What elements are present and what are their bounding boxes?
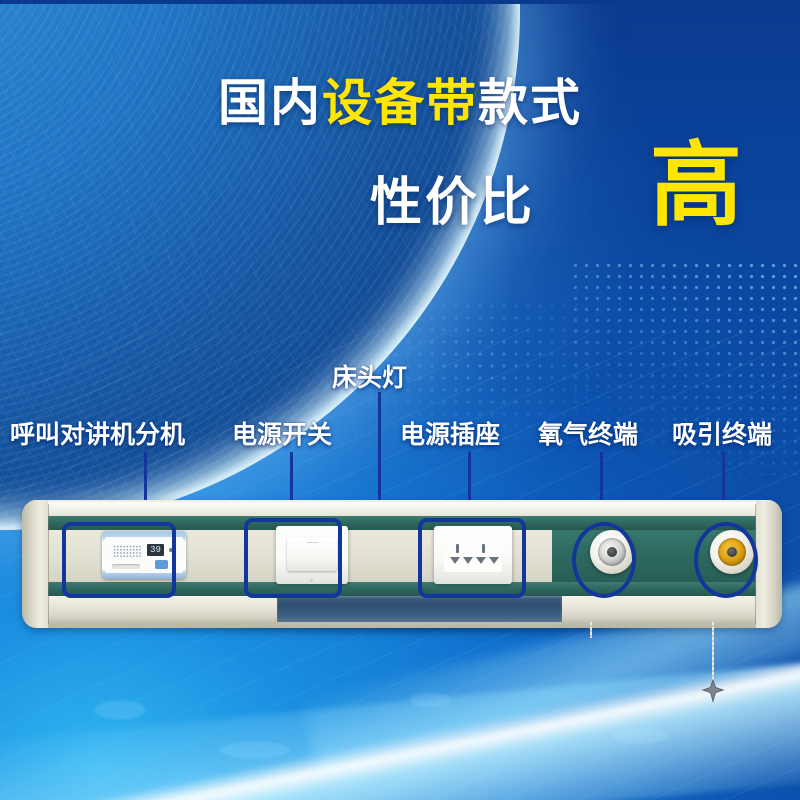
top-edge-bar [0,0,800,4]
callout-label-oxygen: 氧气终端 [538,415,638,451]
panel-end-cap-left [22,500,48,628]
panel-seam-left [48,504,49,624]
headline-line-2: 性价比 [370,160,535,235]
headline-seg-3: 款式 [478,75,582,131]
poster-canvas: 国内设备带款式 性价比 高 呼叫对讲机分机 电源开关 床头灯 电源插座 氧气终端… [0,0,800,800]
highlight-box-intercom [62,522,176,598]
highlight-box-power-socket [418,518,526,598]
headline-seg-1: 国内 [218,75,322,131]
highlight-box-power-switch [244,518,342,598]
headline-highlight-word: 高 [650,140,742,232]
callout-label-intercom: 呼叫对讲机分机 [10,415,185,451]
highlight-ellipse-oxygen [572,522,636,598]
panel-end-cap-right [756,500,782,628]
headline-line-1: 国内设备带款式 [0,78,800,128]
highlight-ellipse-suction [694,522,758,598]
pull-cord-hook-icon [700,678,726,704]
callout-label-suction: 吸引终端 [672,415,772,451]
panel-top-gloss [46,502,758,514]
headline-block: 国内设备带款式 [0,78,800,128]
callout-label-bed-lamp: 床头灯 [332,358,407,394]
callout-label-power-socket: 电源插座 [400,415,500,451]
headline-seg-2: 设备带 [322,75,478,131]
pull-cord-oxygen [590,622,592,638]
callout-label-power-switch: 电源开关 [232,415,332,451]
panel-rail-reflection [277,596,562,622]
